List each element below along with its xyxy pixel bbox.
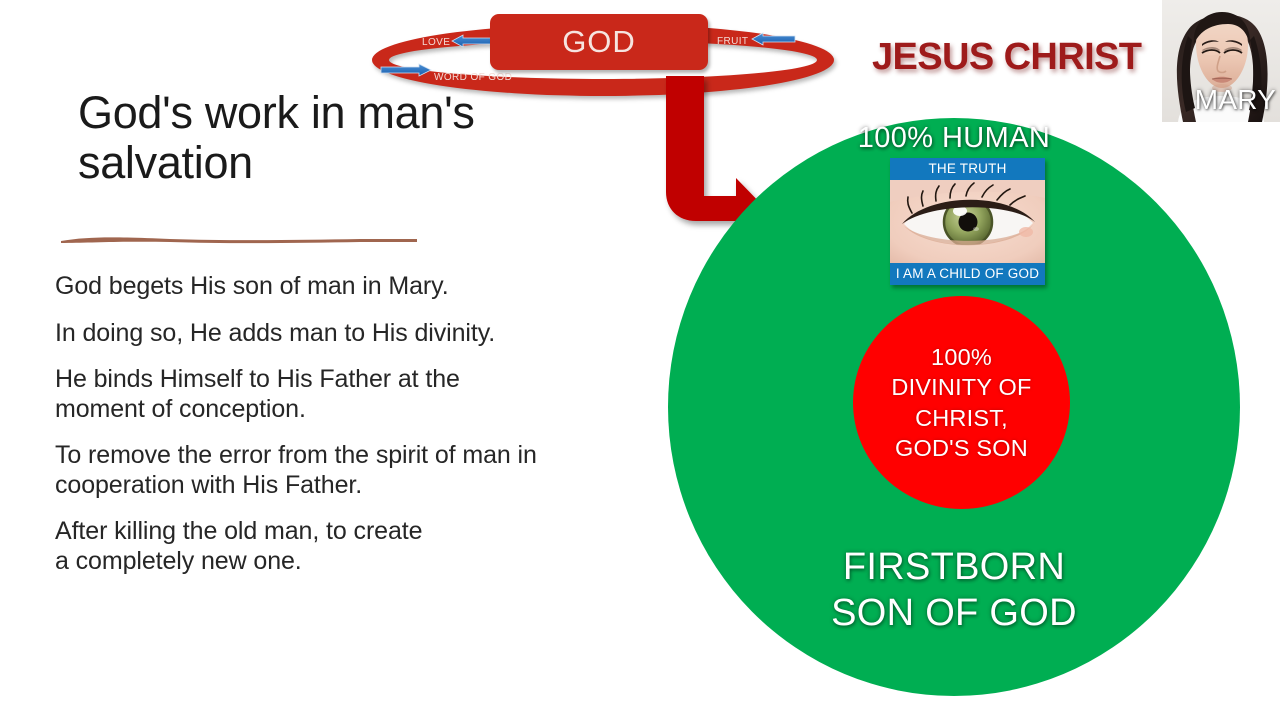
firstborn-caption: FIRSTBORN SON OF GOD <box>668 544 1240 637</box>
body-line: He binds Himself to His Father at the mo… <box>55 365 655 424</box>
slide-canvas: God's work in man's salvation God begets… <box>0 0 1280 720</box>
body-line: God begets His son of man in Mary. <box>55 272 655 302</box>
body-line: After killing the old man, to create a c… <box>55 517 655 576</box>
fruit-arrow-icon <box>750 32 796 46</box>
human-percentage-label: 100% HUMAN <box>668 122 1240 155</box>
truth-eye-card: THE TRUTH <box>890 158 1045 285</box>
title-underline-rule <box>60 234 418 244</box>
divinity-red-circle: 100% DIVINITY OF CHRIST, GOD'S SON <box>853 296 1070 509</box>
body-text-block: God begets His son of man in Mary. In do… <box>55 272 655 593</box>
firstborn-line: FIRSTBORN <box>668 544 1240 590</box>
eye-photo <box>890 180 1045 263</box>
god-label-box: GOD <box>490 14 708 70</box>
ring-label-word-of-god: WORD OF GOD <box>434 72 512 83</box>
divinity-line: GOD'S SON <box>895 433 1028 463</box>
divinity-line: 100% <box>931 342 992 372</box>
eye-card-top-caption: THE TRUTH <box>890 158 1045 180</box>
mary-label: MARY <box>1162 84 1280 116</box>
ring-label-fruit: FRUIT <box>717 36 748 47</box>
body-line: To remove the error from the spirit of m… <box>55 441 655 500</box>
body-line: In doing so, He adds man to His divinity… <box>55 319 655 349</box>
divinity-line: CHRIST, <box>915 403 1008 433</box>
firstborn-line: SON OF GOD <box>668 590 1240 636</box>
word-of-god-arrow-icon <box>380 63 432 77</box>
ring-label-love: LOVE <box>422 37 450 48</box>
jesus-christ-heading: JESUS CHRIST <box>872 36 1141 79</box>
god-label-text: GOD <box>562 24 636 60</box>
eye-card-bottom-caption: I AM A CHILD OF GOD <box>890 263 1045 285</box>
divinity-line: DIVINITY OF <box>891 372 1031 402</box>
